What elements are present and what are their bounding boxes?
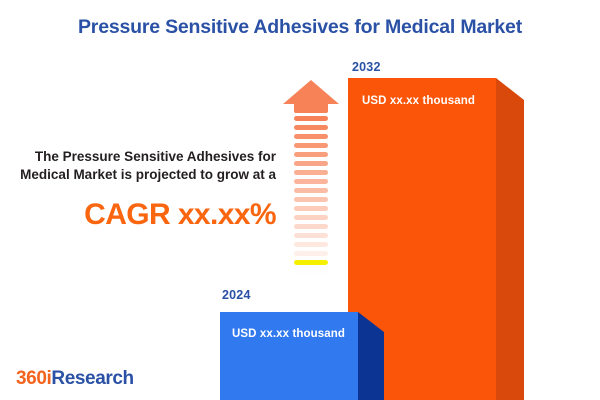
arrow-stripe [294, 278, 328, 283]
logo-suffix: Research [51, 368, 133, 389]
arrow-stripe [294, 143, 328, 148]
arrow-stripe [294, 125, 328, 130]
arrow-stripe [294, 161, 328, 166]
arrow-stripe [294, 260, 328, 265]
bar-2024-side-face [358, 312, 384, 400]
arrow-head-neck [294, 104, 328, 113]
arrow-shaft-stripes [294, 116, 328, 285]
bar-2024-year-label: 2024 [222, 288, 251, 302]
arrow-stripe [294, 251, 328, 256]
brand-logo: 360iResearch [16, 368, 134, 390]
logo-prefix: 360i [16, 368, 51, 389]
bar-2032-value-label: USD xx.xx thousand [362, 95, 475, 107]
market-infographic: Pressure Sensitive Adhesives for Medical… [0, 0, 600, 400]
bar-2032-side-face [496, 78, 524, 400]
arrow-stripe [294, 179, 328, 184]
arrow-stripe [294, 224, 328, 229]
market-statement: The Pressure Sensitive Adhesives for Med… [8, 148, 276, 184]
arrow-stripe [294, 134, 328, 139]
bar-2032-year-label: 2032 [352, 60, 381, 74]
bar-2024 [220, 312, 384, 400]
bar-2024-front-face [220, 312, 358, 400]
arrow-stripe [294, 188, 328, 193]
cagr-value: CAGR xx.xx% [8, 200, 276, 230]
arrow-stripe [294, 152, 328, 157]
arrow-head [283, 80, 339, 110]
arrow-stripe [294, 206, 328, 211]
arrow-stripe [294, 116, 328, 121]
arrow-head-triangle [283, 80, 339, 104]
growth-arrow-up-icon [283, 80, 339, 285]
bar-2024-value-label: USD xx.xx thousand [232, 328, 345, 340]
arrow-stripe [294, 170, 328, 175]
arrow-stripe [294, 269, 328, 274]
arrow-stripe [294, 215, 328, 220]
arrow-stripe [294, 242, 328, 247]
arrow-stripe [294, 233, 328, 238]
page-title: Pressure Sensitive Adhesives for Medical… [0, 16, 600, 39]
arrow-stripe [294, 197, 328, 202]
